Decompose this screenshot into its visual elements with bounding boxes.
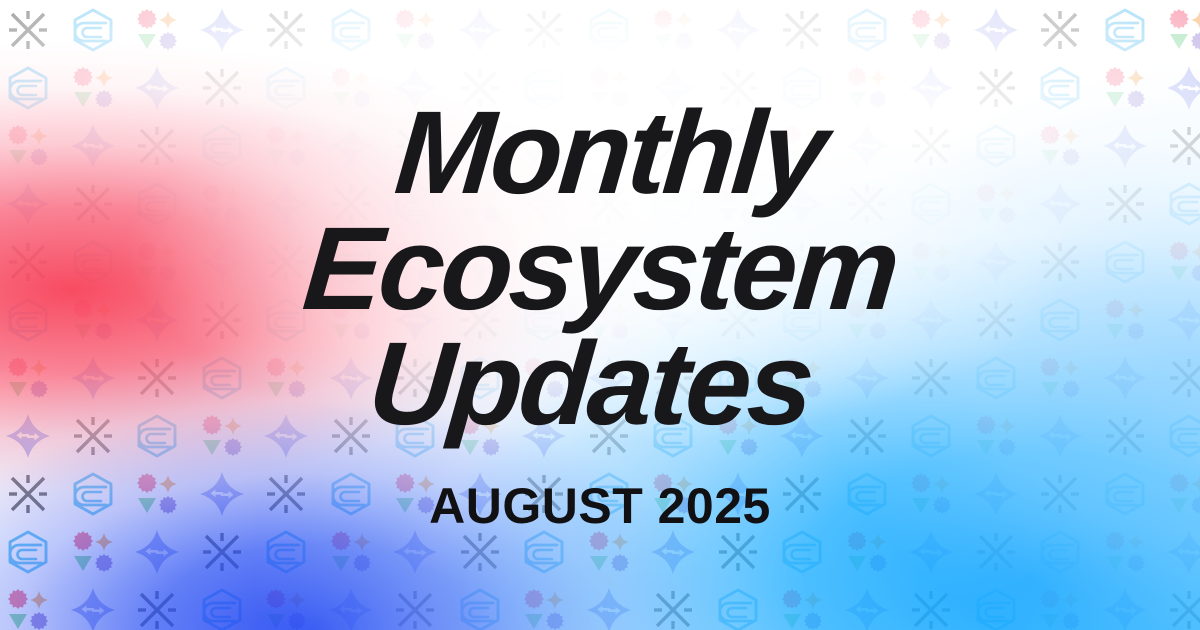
shape-cluster-icon bbox=[521, 587, 567, 630]
shape-cluster-icon bbox=[134, 7, 180, 53]
asterisk-icon bbox=[5, 7, 51, 53]
diamond-swap-icon bbox=[844, 587, 890, 630]
diamond-swap-icon bbox=[134, 529, 180, 575]
hexagon-spiral-icon bbox=[328, 7, 374, 53]
monthly-ecosystem-updates-banner: Monthly Ecosystem Updates AUGUST 2025 bbox=[0, 0, 1200, 630]
hexagon-spiral-icon bbox=[457, 587, 503, 630]
diamond-swap-icon bbox=[457, 7, 503, 53]
asterisk-icon bbox=[973, 529, 1019, 575]
diamond-swap-icon bbox=[392, 529, 438, 575]
hexagon-spiral-icon bbox=[199, 587, 245, 630]
shape-cluster-icon bbox=[908, 7, 954, 53]
asterisk-icon bbox=[1166, 587, 1200, 630]
asterisk-icon bbox=[392, 587, 438, 630]
shape-cluster-icon bbox=[1166, 7, 1200, 53]
hexagon-spiral-icon bbox=[844, 7, 890, 53]
asterisk-icon bbox=[263, 7, 309, 53]
shape-cluster-icon bbox=[586, 529, 632, 575]
shape-cluster-icon bbox=[779, 587, 825, 630]
shape-cluster-icon bbox=[844, 529, 890, 575]
diamond-swap-icon bbox=[650, 529, 696, 575]
diamond-swap-icon bbox=[1166, 529, 1200, 575]
diamond-swap-icon bbox=[586, 587, 632, 630]
hexagon-spiral-icon bbox=[521, 529, 567, 575]
asterisk-icon bbox=[521, 7, 567, 53]
hexagon-spiral-icon bbox=[779, 529, 825, 575]
shape-cluster-icon bbox=[1037, 587, 1083, 630]
diamond-swap-icon bbox=[328, 587, 374, 630]
headline-line-1: Monthly bbox=[45, 96, 1175, 212]
asterisk-icon bbox=[779, 7, 825, 53]
shape-cluster-icon bbox=[392, 7, 438, 53]
page-title: Monthly Ecosystem Updates bbox=[0, 96, 1200, 443]
asterisk-icon bbox=[650, 587, 696, 630]
hexagon-spiral-icon bbox=[1037, 529, 1083, 575]
asterisk-icon bbox=[1037, 7, 1083, 53]
asterisk-icon bbox=[134, 587, 180, 630]
headline-line-3: Updates bbox=[25, 327, 1155, 443]
shape-cluster-icon bbox=[1102, 529, 1148, 575]
shape-cluster-icon bbox=[70, 529, 116, 575]
asterisk-icon bbox=[715, 529, 761, 575]
hexagon-spiral-icon bbox=[70, 7, 116, 53]
diamond-swap-icon bbox=[199, 7, 245, 53]
shape-cluster-icon bbox=[263, 587, 309, 630]
diamond-swap-icon bbox=[1102, 587, 1148, 630]
hexagon-spiral-icon bbox=[263, 529, 309, 575]
banner-subtitle: AUGUST 2025 bbox=[0, 443, 1200, 535]
asterisk-icon bbox=[908, 587, 954, 630]
asterisk-icon bbox=[199, 529, 245, 575]
shape-cluster-icon bbox=[328, 529, 374, 575]
hexagon-spiral-icon bbox=[5, 529, 51, 575]
diamond-swap-icon bbox=[973, 7, 1019, 53]
hexagon-spiral-icon bbox=[586, 7, 632, 53]
shape-cluster-icon bbox=[5, 587, 51, 630]
headline-line-2: Ecosystem bbox=[35, 212, 1165, 328]
hexagon-spiral-icon bbox=[715, 587, 761, 630]
hexagon-spiral-icon bbox=[973, 587, 1019, 630]
diamond-swap-icon bbox=[70, 587, 116, 630]
hexagon-spiral-icon bbox=[1102, 7, 1148, 53]
shape-cluster-icon bbox=[650, 7, 696, 53]
diamond-swap-icon bbox=[715, 7, 761, 53]
diamond-swap-icon bbox=[908, 529, 954, 575]
asterisk-icon bbox=[457, 529, 503, 575]
banner-text-block: Monthly Ecosystem Updates AUGUST 2025 bbox=[0, 96, 1200, 535]
